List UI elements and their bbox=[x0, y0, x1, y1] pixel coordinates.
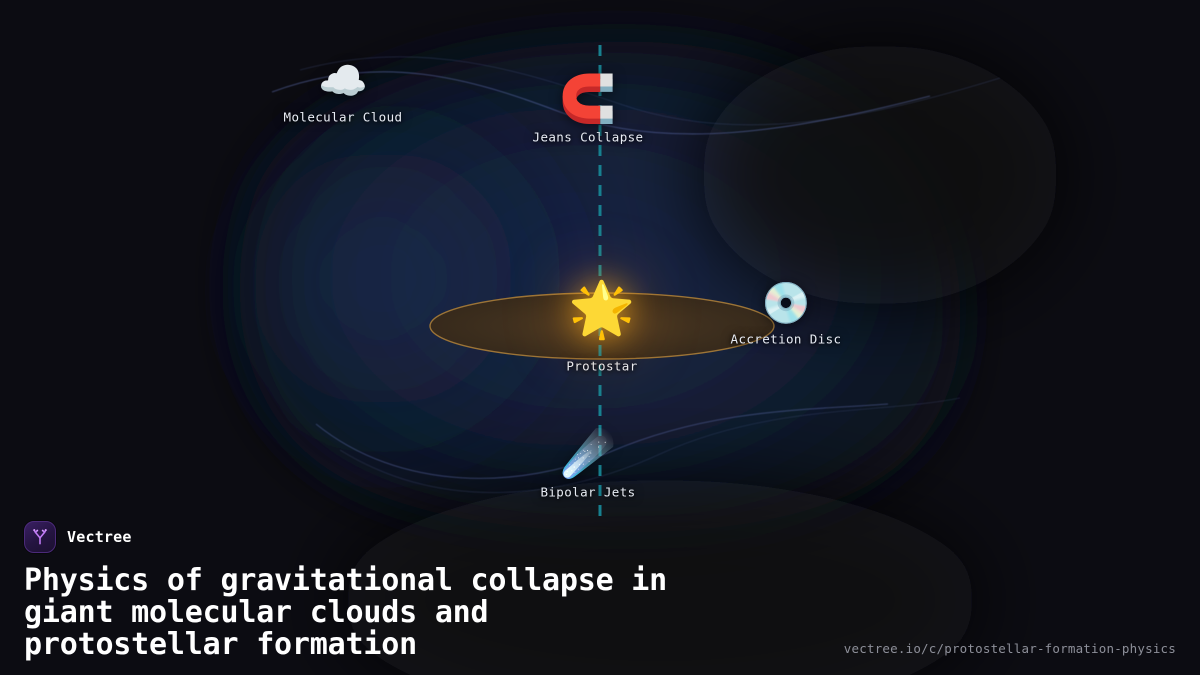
node-molecular-cloud[interactable]: ☁️ Molecular Cloud bbox=[284, 62, 403, 125]
source-url: vectree.io/c/protostellar-formation-phys… bbox=[844, 641, 1176, 656]
node-label-protostar: Protostar bbox=[566, 359, 637, 374]
brand-name: Vectree bbox=[67, 528, 132, 546]
og-image-canvas: ☁️ Molecular Cloud 🧲 Jeans Collapse 🌟 Pr… bbox=[0, 0, 1200, 675]
cloud-icon: ☁️ bbox=[318, 62, 368, 102]
comet-icon: ☄️ bbox=[561, 433, 616, 477]
node-bipolar-jets[interactable]: ☄️ Bipolar Jets bbox=[540, 433, 635, 500]
vectree-tree-icon bbox=[24, 521, 56, 553]
page-title: Physics of gravitational collapse in gia… bbox=[24, 565, 854, 661]
node-label-molecular-cloud: Molecular Cloud bbox=[284, 110, 403, 125]
node-label-bipolar-jets: Bipolar Jets bbox=[540, 485, 635, 500]
optical-disc-icon: 💿 bbox=[761, 284, 811, 324]
node-label-accretion-disc: Accretion Disc bbox=[731, 332, 842, 347]
node-label-jeans-collapse: Jeans Collapse bbox=[533, 130, 644, 145]
node-protostar[interactable]: 🌟 Protostar bbox=[566, 283, 637, 374]
glowing-star-icon: 🌟 bbox=[568, 283, 635, 337]
node-accretion-disc[interactable]: 💿 Accretion Disc bbox=[731, 284, 842, 347]
magnet-icon: 🧲 bbox=[559, 76, 616, 122]
brand-block[interactable]: Vectree bbox=[24, 521, 1176, 553]
node-jeans-collapse[interactable]: 🧲 Jeans Collapse bbox=[533, 76, 644, 145]
